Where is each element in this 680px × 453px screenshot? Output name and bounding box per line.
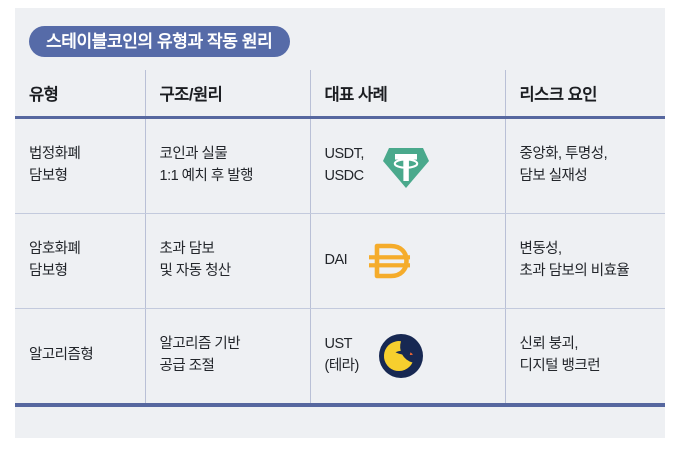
cell-risk: 신뢰 붕괴, 디지털 뱅크런 [505, 309, 665, 406]
cell-example: USDT, USDC [310, 118, 505, 214]
cell-example: DAI [310, 214, 505, 309]
table-row: 알고리즘형 알고리즘 기반 공급 조절 UST (테라) [15, 309, 665, 406]
column-header-type: 유형 [15, 70, 145, 118]
cell-text-line: 알고리즘 기반 [160, 334, 304, 356]
cell-text-line: DAI [325, 250, 348, 272]
cell-text-line: 공급 조절 [160, 356, 304, 378]
tether-logo [380, 140, 432, 192]
cell-text-line: 담보 실재성 [520, 166, 660, 188]
table-row: 법정화폐 담보형 코인과 실물 1:1 예치 후 발행 USDT, USDC [15, 118, 665, 214]
cell-text-line: 법정화폐 [29, 144, 139, 166]
cell-text-line: 신뢰 붕괴, [520, 334, 660, 356]
cell-text-line: USDT, [325, 144, 364, 166]
cell-text-line: 초과 담보의 비효율 [520, 261, 660, 283]
table-body: 법정화폐 담보형 코인과 실물 1:1 예치 후 발행 USDT, USDC [15, 118, 665, 406]
table-header-row: 유형 구조/원리 대표 사례 리스크 요인 [15, 70, 665, 118]
cell-text-line: 초과 담보 [160, 239, 304, 261]
cell-structure: 초과 담보 및 자동 청산 [145, 214, 310, 309]
example-labels: DAI [325, 250, 348, 272]
column-header-structure: 구조/원리 [145, 70, 310, 118]
column-header-example: 대표 사례 [310, 70, 505, 118]
cell-text-line: UST [325, 334, 359, 356]
table-header: 유형 구조/원리 대표 사례 리스크 요인 [15, 70, 665, 118]
cell-example: UST (테라) [310, 309, 505, 406]
column-header-risk: 리스크 요인 [505, 70, 665, 118]
cell-text-line: 디지털 뱅크런 [520, 356, 660, 378]
cell-text-line: 암호화폐 [29, 239, 139, 261]
cell-text-line: 중앙화, 투명성, [520, 144, 660, 166]
table-row: 암호화폐 담보형 초과 담보 및 자동 청산 DAI [15, 214, 665, 309]
cell-risk: 변동성, 초과 담보의 비효율 [505, 214, 665, 309]
stablecoin-types-table: 유형 구조/원리 대표 사례 리스크 요인 법정화폐 담보형 코인과 실물 1:… [15, 70, 665, 407]
cell-text-line: 알고리즘형 [29, 345, 139, 367]
example-labels: USDT, USDC [325, 144, 364, 188]
infographic-card: 스테이블코인의 유형과 작동 원리 유형 구조/원리 대표 사례 리스크 요인 … [15, 8, 665, 438]
cell-text-line: 담보형 [29, 166, 139, 188]
cell-type: 법정화폐 담보형 [15, 118, 145, 214]
cell-text-line: 1:1 예치 후 발행 [160, 166, 304, 188]
cell-structure: 코인과 실물 1:1 예치 후 발행 [145, 118, 310, 214]
cell-text-line: 및 자동 청산 [160, 261, 304, 283]
cell-type: 암호화폐 담보형 [15, 214, 145, 309]
dai-logo [363, 235, 415, 287]
cell-text-line: 코인과 실물 [160, 144, 304, 166]
cell-type: 알고리즘형 [15, 309, 145, 406]
cell-risk: 중앙화, 투명성, 담보 실재성 [505, 118, 665, 214]
cell-text-line: 변동성, [520, 239, 660, 261]
page-title: 스테이블코인의 유형과 작동 원리 [46, 33, 272, 50]
page-title-badge: 스테이블코인의 유형과 작동 원리 [29, 26, 290, 57]
example-labels: UST (테라) [325, 334, 359, 378]
terra-luna-logo [375, 330, 427, 382]
cell-structure: 알고리즘 기반 공급 조절 [145, 309, 310, 406]
cell-text-line: (테라) [325, 356, 359, 378]
cell-text-line: 담보형 [29, 261, 139, 283]
cell-text-line: USDC [325, 166, 364, 188]
